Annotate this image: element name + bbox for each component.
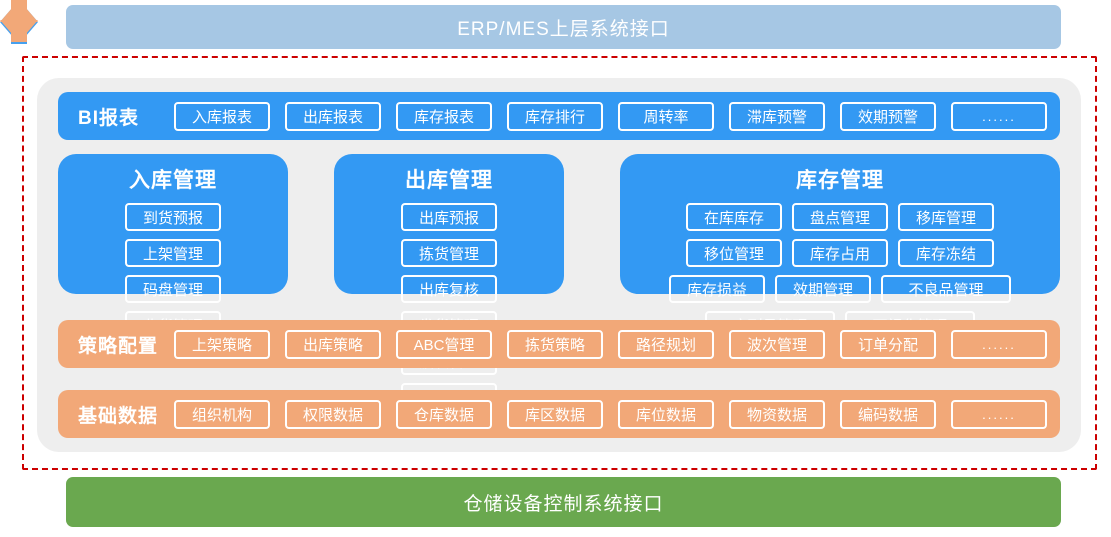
basedata-item-kuwei-shuju[interactable]: 库位数据	[618, 400, 714, 429]
device-control-interface-label: 仓储设备控制系统接口	[463, 489, 663, 516]
bi-item-kucun-baobiao[interactable]: 库存报表	[396, 102, 492, 131]
basedata-item-more[interactable]: ......	[951, 400, 1047, 429]
strategy-config-band: 策略配置 上架策略 出库策略 ABC管理 拣货策略 路径规划 波次管理 订单分配…	[58, 320, 1060, 368]
strategy-item-shangjia-celue[interactable]: 上架策略	[174, 330, 270, 359]
strategy-config-title: 策略配置	[78, 331, 174, 358]
device-up-arrow-shaft	[11, 20, 27, 42]
bi-item-xiaoqi-yujing[interactable]: 效期预警	[840, 102, 936, 131]
basedata-item-wuzi-shuju[interactable]: 物资数据	[729, 400, 825, 429]
inbound-item-daohuo-yubao[interactable]: 到货预报	[125, 203, 221, 231]
inbound-item-shangjia-guanli[interactable]: 上架管理	[125, 239, 221, 267]
outbound-management-title: 出库管理	[334, 164, 564, 194]
basedata-item-cangku-shuju[interactable]: 仓库数据	[396, 400, 492, 429]
bi-item-more[interactable]: ......	[951, 102, 1047, 131]
outbound-management-items: 出库预报 拣货管理 出库复核 发货管理 波次管理 越库管理	[334, 203, 564, 419]
inbound-management-title: 入库管理	[58, 164, 288, 194]
device-up-arrow	[0, 130, 38, 172]
strategy-item-boci-guanli[interactable]: 波次管理	[729, 330, 825, 359]
outbound-item-chuku-yubao[interactable]: 出库预报	[401, 203, 497, 231]
basedata-item-zuzhi-jigou[interactable]: 组织机构	[174, 400, 270, 429]
inventory-item-xiaoqi-guanli[interactable]: 效期管理	[775, 275, 871, 303]
inventory-management-card: 库存管理 在库库存 盘点管理 移库管理 移位管理 库存占用 库存冻结 库存损益 …	[620, 154, 1060, 294]
erp-up-arrow	[0, 44, 38, 88]
device-down-arrow	[0, 88, 38, 130]
bi-item-zhiku-yujing[interactable]: 滞库预警	[729, 102, 825, 131]
inventory-item-pandian-guanli[interactable]: 盘点管理	[792, 203, 888, 231]
strategy-item-lujing-guihua[interactable]: 路径规划	[618, 330, 714, 359]
strategy-item-dingdan-fenpei[interactable]: 订单分配	[840, 330, 936, 359]
inbound-management-card: 入库管理 到货预报 上架管理 码盘管理 收货管理	[58, 154, 288, 294]
strategy-item-chuku-celue[interactable]: 出库策略	[285, 330, 381, 359]
outbound-item-jianhuo-guanli[interactable]: 拣货管理	[401, 239, 497, 267]
bi-item-zhouzhuanlv[interactable]: 周转率	[618, 102, 714, 131]
inventory-item-buliangpin-guanli[interactable]: 不良品管理	[881, 275, 1011, 303]
bi-report-title: BI报表	[78, 103, 174, 130]
inbound-item-mapan-guanli[interactable]: 码盘管理	[125, 275, 221, 303]
inventory-item-kucun-sunyi[interactable]: 库存损益	[669, 275, 765, 303]
base-data-band: 基础数据 组织机构 权限数据 仓库数据 库区数据 库位数据 物资数据 编码数据 …	[58, 390, 1060, 438]
inventory-item-yiwei-guanli[interactable]: 移位管理	[686, 239, 782, 267]
inventory-management-title: 库存管理	[620, 164, 1060, 194]
erp-mes-interface-bar: ERP/MES上层系统接口	[66, 5, 1061, 49]
architecture-diagram: ERP/MES上层系统接口 BI报表 入库报表 出库报表 库存报表 库存排行 周…	[0, 0, 1111, 537]
basedata-item-quanxian-shuju[interactable]: 权限数据	[285, 400, 381, 429]
bi-item-chuku-baobiao[interactable]: 出库报表	[285, 102, 381, 131]
device-control-interface-bar: 仓储设备控制系统接口	[66, 477, 1061, 527]
bi-report-band: BI报表 入库报表 出库报表 库存报表 库存排行 周转率 滞库预警 效期预警 .…	[58, 92, 1060, 140]
strategy-item-abc-guanli[interactable]: ABC管理	[396, 330, 492, 359]
inventory-item-kucun-dongjie[interactable]: 库存冻结	[898, 239, 994, 267]
erp-mes-interface-label: ERP/MES上层系统接口	[457, 14, 670, 41]
basedata-item-bianma-shuju[interactable]: 编码数据	[840, 400, 936, 429]
strategy-item-jianhuo-celue[interactable]: 拣货策略	[507, 330, 603, 359]
outbound-item-chuku-fuhe[interactable]: 出库复核	[401, 275, 497, 303]
bi-item-kucun-paihang[interactable]: 库存排行	[507, 102, 603, 131]
strategy-item-more[interactable]: ......	[951, 330, 1047, 359]
outbound-management-card: 出库管理 出库预报 拣货管理 出库复核 发货管理 波次管理 越库管理	[334, 154, 564, 294]
inventory-item-yiku-guanli[interactable]: 移库管理	[898, 203, 994, 231]
inventory-item-zaiku-kucun[interactable]: 在库库存	[686, 203, 782, 231]
basedata-item-kuqu-shuju[interactable]: 库区数据	[507, 400, 603, 429]
base-data-title: 基础数据	[78, 401, 174, 428]
inventory-item-kucun-zhanyong[interactable]: 库存占用	[792, 239, 888, 267]
device-up-arrow-head	[0, 0, 38, 22]
bi-item-ruku-baobiao[interactable]: 入库报表	[174, 102, 270, 131]
